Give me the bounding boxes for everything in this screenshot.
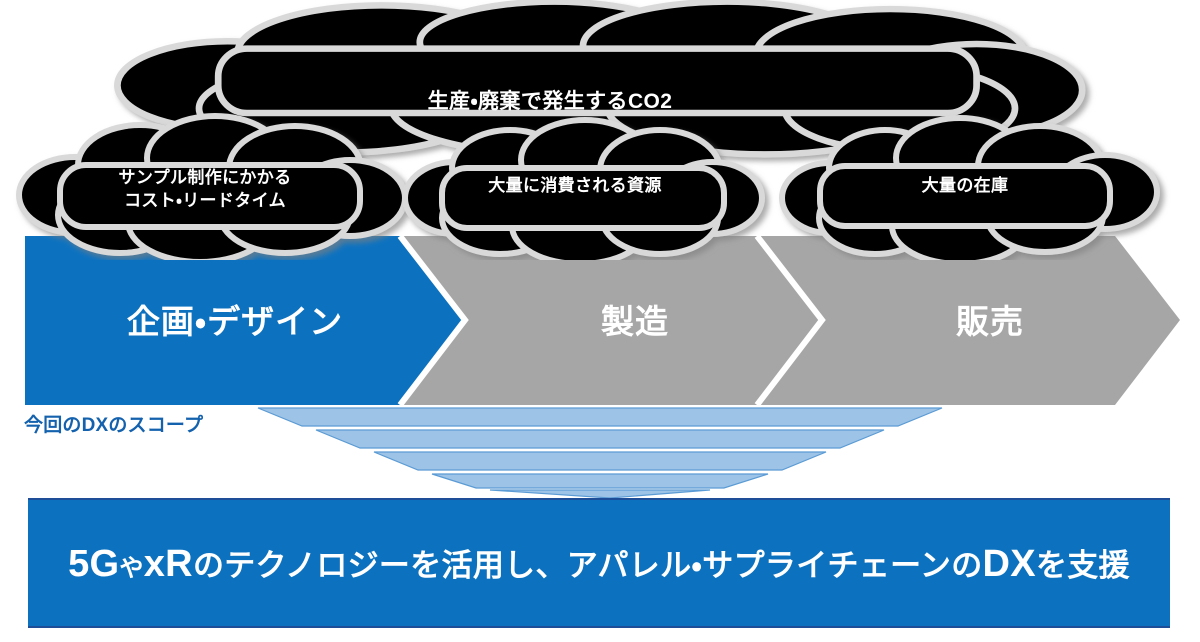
banner-segment: 5G [68,543,119,585]
banner-segment: や [119,555,143,582]
dx-scope-funnel [250,404,950,500]
banner-segment: のテクノロジーを活用し、アパレル・サプライチェーンの [193,548,983,583]
pain-point-clouds [0,0,1200,260]
banner-segment: DX [983,543,1036,585]
funnel-layer-2 [316,430,884,448]
banner-segment: を支援 [1036,548,1130,583]
value-proposition-banner: 5GやxRのテクノロジーを活用し、アパレル・サプライチェーンのDXを支援 [28,498,1170,628]
process-stage-planning-shape[interactable] [25,236,465,405]
value-proposition-text: 5GやxRのテクノロジーを活用し、アパレル・サプライチェーンのDXを支援 [68,540,1130,586]
funnel-layer-3 [374,452,826,470]
banner-segment: xR [144,543,193,585]
funnel-layer-1 [258,408,942,426]
dx-scope-label: 今回のDXのスコープ [24,410,203,437]
funnel-layer-5 [490,490,710,498]
slide-canvas: 企画・デザイン 製造 販売 今回のDXのスコープ [0,0,1200,642]
funnel-layer-4 [432,474,768,488]
